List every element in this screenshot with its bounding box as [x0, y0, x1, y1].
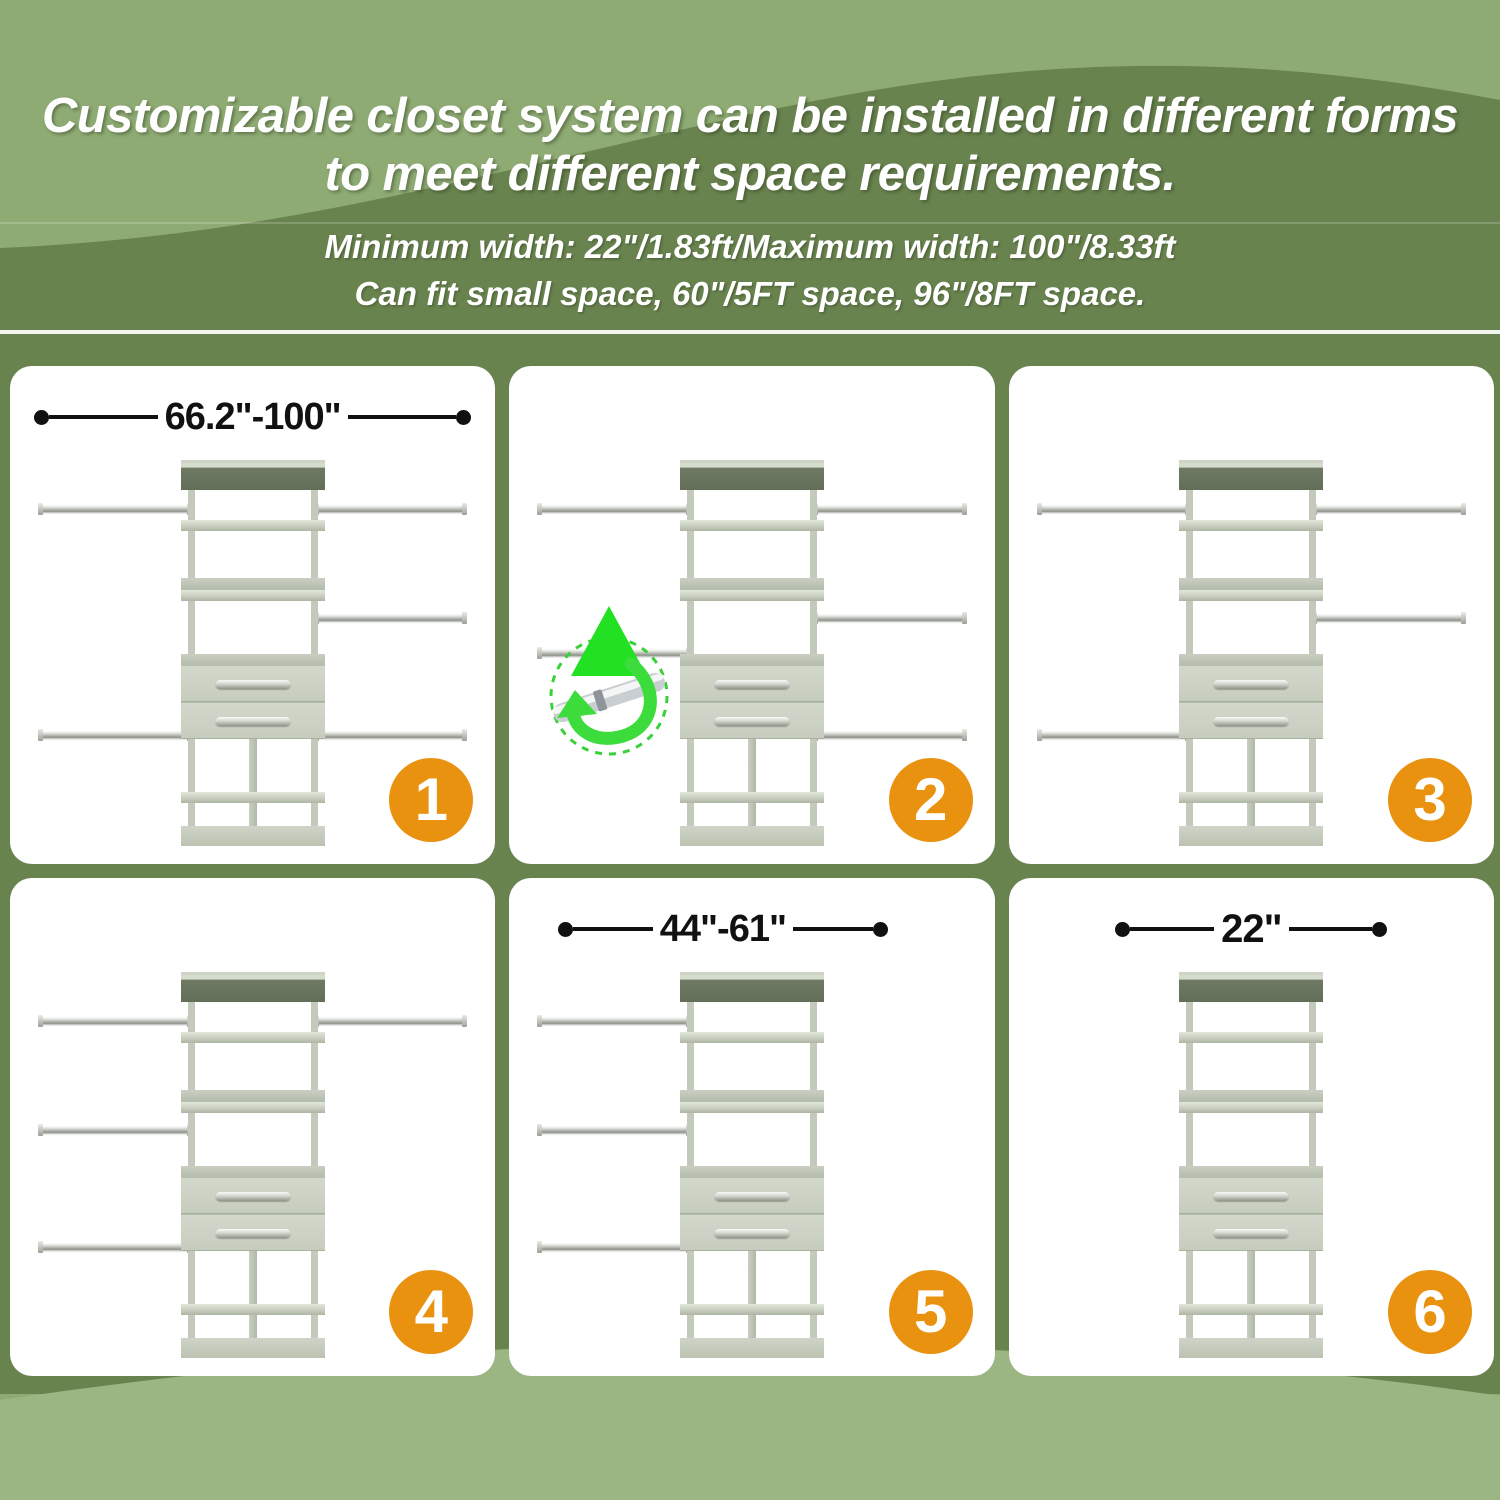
hanging-rod-left-bottom[interactable]: [39, 1243, 191, 1251]
config-panel-6[interactable]: 22" 6: [1009, 878, 1494, 1376]
tower-drawer-lower[interactable]: [680, 1214, 824, 1251]
tower-top-shelf: [181, 460, 325, 490]
config-panel-5[interactable]: 44"-61" 5: [509, 878, 994, 1376]
dimension-line-right: [1289, 927, 1373, 931]
config-panel-4[interactable]: 4: [10, 878, 495, 1376]
tower-drawer-upper[interactable]: [680, 1177, 824, 1214]
closet-tower: [188, 972, 318, 1358]
tower-drawer-lower[interactable]: [181, 1214, 325, 1251]
hanging-rod-left-bottom[interactable]: [538, 1243, 690, 1251]
tower-top-shelf: [680, 972, 824, 1002]
tower-base: [1179, 826, 1323, 846]
cubby-mid-shelf: [181, 792, 325, 803]
tower-top-shelf: [1179, 460, 1323, 490]
hanging-rod-left-top[interactable]: [538, 1017, 690, 1025]
hanging-rod-left-top[interactable]: [1038, 505, 1190, 513]
header: Customizable closet system can be instal…: [0, 0, 1500, 332]
tower-drawer-lower[interactable]: [181, 702, 325, 739]
dimension-line-left: [1130, 927, 1214, 931]
tower-drawer-lower[interactable]: [1179, 702, 1323, 739]
dimension-dot-right-icon: [873, 922, 888, 937]
cubby-vertical-divider: [249, 739, 257, 837]
drawer-handle-icon[interactable]: [215, 1229, 290, 1238]
drawer-handle-icon[interactable]: [1214, 717, 1289, 726]
dimension-indicator: 66.2"-100": [34, 394, 471, 440]
tower-drawer-lower[interactable]: [680, 702, 824, 739]
tower-drawer-upper[interactable]: [181, 665, 325, 702]
tower-drawer-upper[interactable]: [680, 665, 824, 702]
drawer-handle-icon[interactable]: [215, 717, 290, 726]
dimension-line-right: [348, 415, 456, 419]
tower-base: [680, 826, 824, 846]
tower-base: [1179, 1338, 1323, 1358]
panel-number-badge: 6: [1388, 1270, 1472, 1354]
hanging-rod-right-middle[interactable]: [1313, 614, 1465, 622]
tower-shelf-3: [1179, 590, 1323, 601]
tower-shelf-3: [1179, 1102, 1323, 1113]
tower-drawer-lower[interactable]: [1179, 1214, 1323, 1251]
hanging-rod-right-middle[interactable]: [814, 614, 966, 622]
hanging-rod-left-top[interactable]: [538, 505, 690, 513]
cubby-mid-shelf: [680, 792, 824, 803]
drawer-handle-icon[interactable]: [215, 680, 290, 689]
closet-tower: [1186, 972, 1316, 1358]
panel-number-label: 4: [415, 1282, 448, 1342]
drawer-handle-icon[interactable]: [1214, 1192, 1289, 1201]
panel-number-badge: 3: [1388, 758, 1472, 842]
panel-number-label: 5: [914, 1282, 947, 1342]
config-panel-2[interactable]: 2: [509, 366, 994, 864]
dimension-dot-left-icon: [34, 410, 49, 425]
hanging-rod-right-top[interactable]: [1313, 505, 1465, 513]
panel-number-label: 6: [1413, 1282, 1446, 1342]
drawer-handle-icon[interactable]: [1214, 1229, 1289, 1238]
hanging-rod-left-middle[interactable]: [538, 1126, 690, 1134]
tower-top-shelf: [181, 972, 325, 1002]
tower-top-shelf: [1179, 972, 1323, 1002]
tower-shelf-1: [680, 520, 824, 531]
config-panel-1[interactable]: 66.2"-100" 1: [10, 366, 495, 864]
drawer-handle-icon[interactable]: [1214, 680, 1289, 689]
hanging-rod-left-bottom[interactable]: [39, 731, 191, 739]
hanging-rod-right-bottom[interactable]: [315, 731, 467, 739]
tower-shelf-1: [1179, 520, 1323, 531]
dimension-dot-right-icon: [1372, 922, 1387, 937]
page-title: Customizable closet system can be instal…: [0, 88, 1500, 204]
drawer-handle-icon[interactable]: [715, 1192, 790, 1201]
band-divider-lower: [0, 330, 1500, 334]
panel-number-badge: 1: [389, 758, 473, 842]
drawer-handle-icon[interactable]: [215, 1192, 290, 1201]
tower-shelf-3: [680, 1102, 824, 1113]
cubby-vertical-divider: [748, 1251, 756, 1349]
closet-tower: [188, 460, 318, 846]
dimension-line-left: [49, 415, 157, 419]
tower-drawer-upper[interactable]: [1179, 665, 1323, 702]
tower-shelf-1: [680, 1032, 824, 1043]
panel-number-badge: 4: [389, 1270, 473, 1354]
tower-shelf-3: [680, 590, 824, 601]
hanging-rod-left-middle[interactable]: [39, 1126, 191, 1134]
tower-drawer-upper[interactable]: [181, 1177, 325, 1214]
panel-number-label: 1: [415, 770, 448, 830]
closet-tower: [687, 972, 817, 1358]
band-divider-upper: [0, 222, 1500, 224]
tower-base: [181, 826, 325, 846]
subtitle-line-1: Minimum width: 22"/1.83ft/Maximum width:…: [0, 224, 1500, 271]
hanging-rod-left-top[interactable]: [39, 1017, 191, 1025]
configuration-grid: 66.2"-100" 1: [10, 366, 1494, 1376]
cubby-vertical-divider: [249, 1251, 257, 1349]
dimension-indicator: 44"-61": [558, 906, 888, 952]
dimension-label: 66.2"-100": [158, 396, 348, 439]
hanging-rod-right-top[interactable]: [315, 505, 467, 513]
cubby-mid-shelf: [181, 1304, 325, 1315]
tower-shelf-3: [181, 590, 325, 601]
cubby-vertical-divider: [1247, 1251, 1255, 1349]
cubby-mid-shelf: [1179, 792, 1323, 803]
tower-base: [181, 1338, 325, 1358]
tower-shelf-1: [181, 520, 325, 531]
tower-top-shelf: [680, 460, 824, 490]
cubby-vertical-divider: [1247, 739, 1255, 837]
config-panel-3[interactable]: 3: [1009, 366, 1494, 864]
panel-number-badge: 2: [889, 758, 973, 842]
drawer-handle-icon[interactable]: [715, 680, 790, 689]
hanging-rod-left-top[interactable]: [39, 505, 191, 513]
tower-shelf-1: [1179, 1032, 1323, 1043]
rotating-rod-icon: [535, 590, 683, 760]
closet-tower: [687, 460, 817, 846]
dimension-indicator: 22": [1115, 906, 1387, 952]
panel-number-badge: 5: [889, 1270, 973, 1354]
panel-number-label: 2: [914, 770, 947, 830]
dimension-dot-left-icon: [1115, 922, 1130, 937]
dimension-label: 22": [1214, 907, 1288, 952]
cubby-vertical-divider: [748, 739, 756, 837]
dimension-dot-right-icon: [456, 410, 471, 425]
subtitle-line-2: Can fit small space, 60"/5FT space, 96"/…: [0, 271, 1500, 318]
hanging-rod-right-top[interactable]: [814, 505, 966, 513]
cubby-mid-shelf: [680, 1304, 824, 1315]
subtitle-band: Minimum width: 22"/1.83ft/Maximum width:…: [0, 224, 1500, 328]
dimension-line-left: [573, 927, 653, 931]
cubby-mid-shelf: [1179, 1304, 1323, 1315]
drawer-handle-icon[interactable]: [715, 1229, 790, 1238]
hanging-rod-right-bottom[interactable]: [814, 731, 966, 739]
dimension-label: 44"-61": [653, 908, 793, 951]
dimension-line-right: [793, 927, 873, 931]
closet-tower: [1186, 460, 1316, 846]
panel-number-label: 3: [1413, 770, 1446, 830]
tower-shelf-3: [181, 1102, 325, 1113]
hanging-rod-right-top[interactable]: [315, 1017, 467, 1025]
drawer-handle-icon[interactable]: [715, 717, 790, 726]
hanging-rod-right-middle[interactable]: [315, 614, 467, 622]
tower-shelf-1: [181, 1032, 325, 1043]
tower-drawer-upper[interactable]: [1179, 1177, 1323, 1214]
tower-base: [680, 1338, 824, 1358]
dimension-dot-left-icon: [558, 922, 573, 937]
hanging-rod-left-bottom[interactable]: [1038, 731, 1190, 739]
